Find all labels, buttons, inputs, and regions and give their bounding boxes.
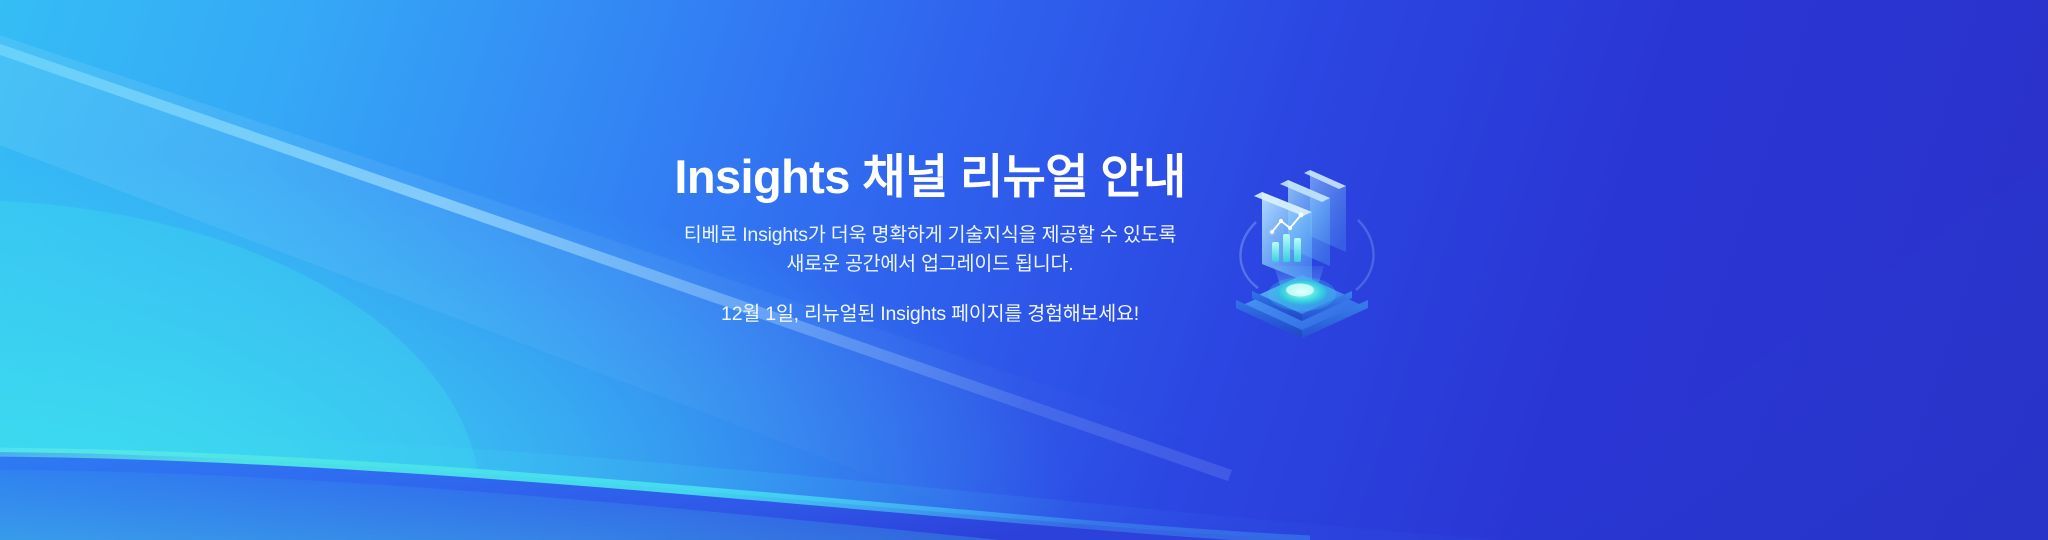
insights-data-stack-illustration: [1218, 148, 1388, 338]
banner-content: Insights 채널 리뉴얼 안내 티베로 Insights가 더욱 명확하게…: [0, 0, 2048, 540]
glow-disc: [1268, 277, 1336, 311]
orbit-arc-left: [1240, 222, 1258, 288]
orbit-arc-right: [1356, 220, 1374, 290]
insights-hero-banner: Insights 채널 리뉴얼 안내 티베로 Insights가 더욱 명확하게…: [0, 0, 2048, 540]
illustration-svg: [1218, 148, 1388, 338]
